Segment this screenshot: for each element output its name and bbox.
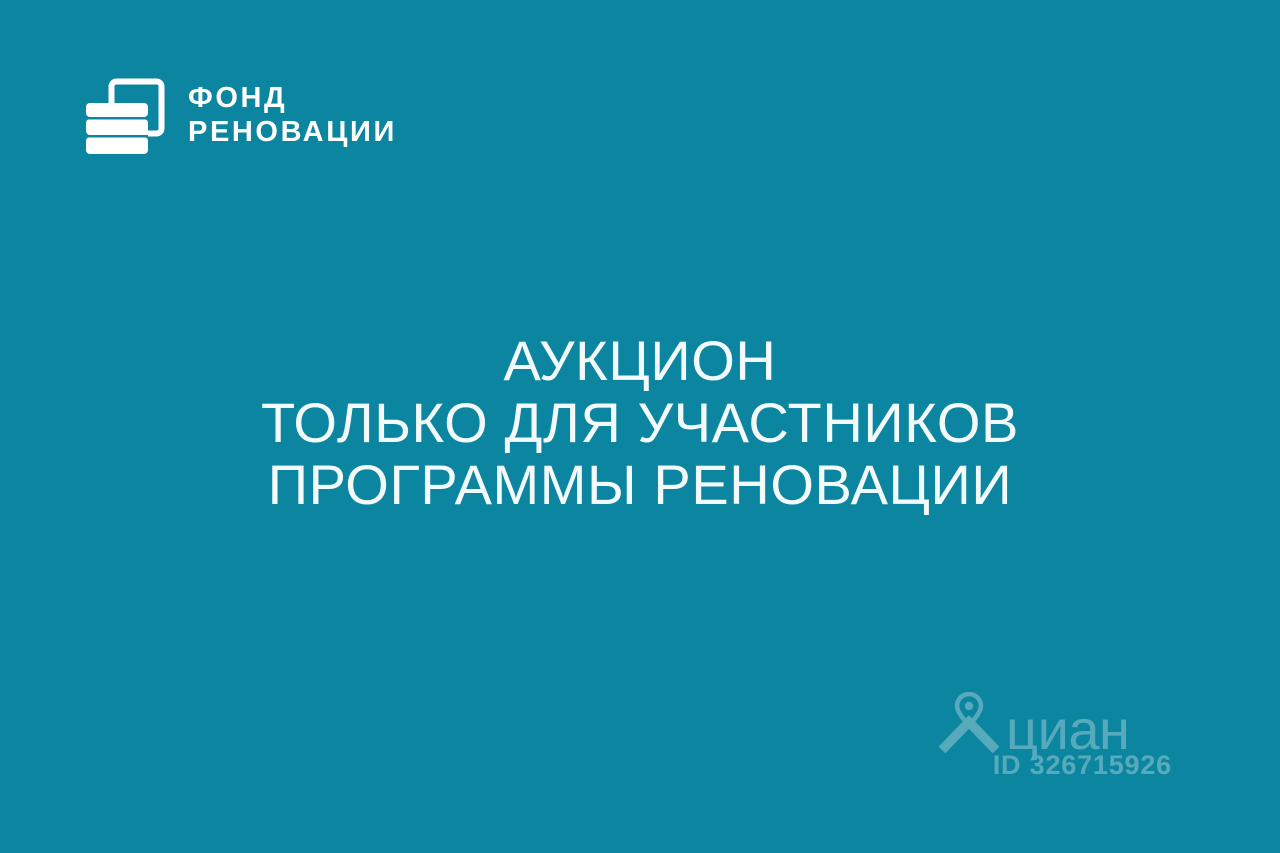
brand-wordmark-line-1: ФОНД: [188, 81, 397, 115]
cian-map-pin-icon: [938, 692, 1000, 754]
headline-line-2: ТОЛЬКО ДЛЯ УЧАСТНИКОВ: [0, 392, 1280, 454]
cian-watermark-name: циан: [1006, 702, 1129, 758]
stacked-documents-icon: [82, 70, 170, 158]
headline: АУКЦИОН ТОЛЬКО ДЛЯ УЧАСТНИКОВ ПРОГРАММЫ …: [0, 330, 1280, 516]
cian-watermark-logo-row: циан: [938, 692, 1178, 754]
brand-lockup: ФОНД РЕНОВАЦИИ: [82, 70, 397, 158]
headline-line-3: ПРОГРАММЫ РЕНОВАЦИИ: [0, 454, 1280, 516]
brand-wordmark-line-2: РЕНОВАЦИИ: [188, 115, 397, 149]
cian-watermark: циан ID 326715926: [938, 692, 1178, 788]
brand-wordmark: ФОНД РЕНОВАЦИИ: [188, 81, 397, 149]
headline-line-1: АУКЦИОН: [0, 330, 1280, 392]
auction-banner: ФОНД РЕНОВАЦИИ АУКЦИОН ТОЛЬКО ДЛЯ УЧАСТН…: [0, 0, 1280, 853]
